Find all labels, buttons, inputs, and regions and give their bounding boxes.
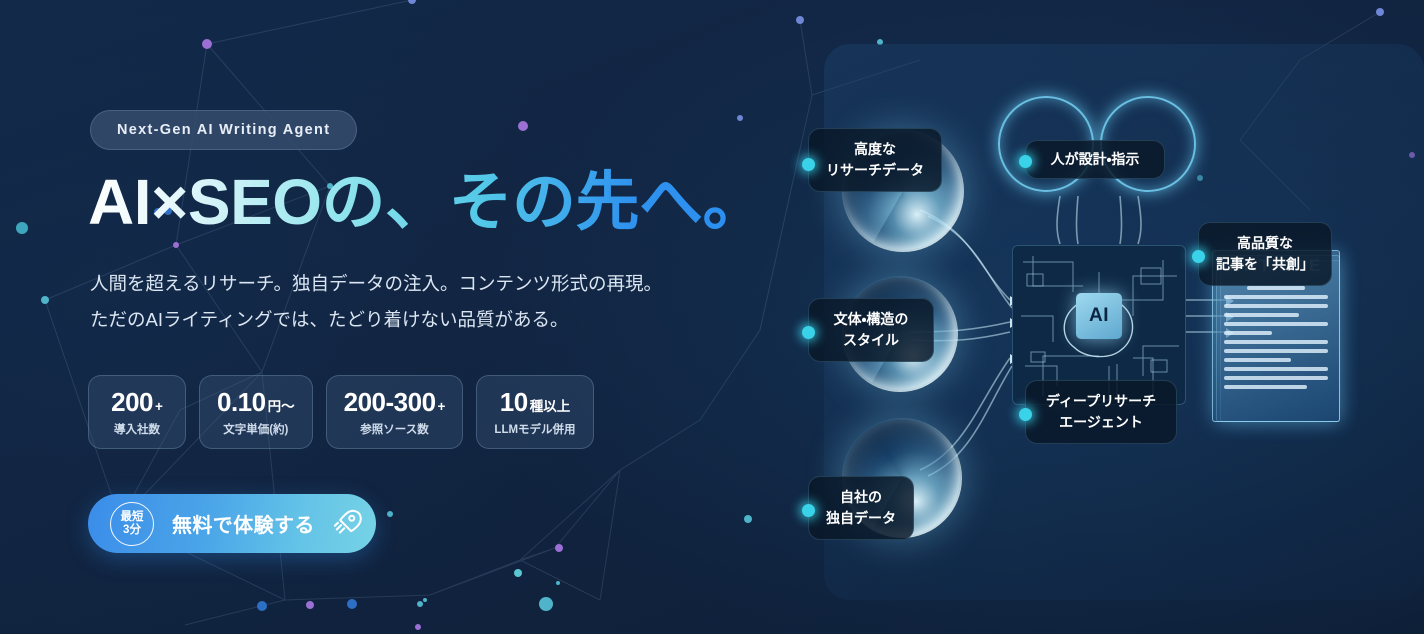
diagram-label-engine: ディープリサーチ エージェント: [1025, 380, 1177, 444]
stat-value: 200-300: [344, 387, 436, 418]
diagram-label-research-data: 高度な リサーチデータ: [808, 128, 942, 192]
diagram-label-output: 高品質な 記事を「共創」: [1198, 222, 1332, 286]
label-line-2: スタイル: [843, 330, 899, 351]
connector-dot-output: [1192, 250, 1205, 263]
stat-label: 参照ソース数: [360, 421, 428, 437]
connector-dot-human: [1019, 155, 1032, 168]
stat-value: 0.10: [217, 387, 266, 418]
diagram-label-style: 文体・構造の スタイル: [808, 298, 934, 362]
connector-dot-style: [802, 326, 815, 339]
hero-section: Next-Gen AI Writing Agent AI×SEOの、その先へ。 …: [0, 0, 1424, 634]
rocket-icon: [333, 507, 363, 540]
label-line-2: エージェント: [1059, 412, 1143, 433]
ai-workflow-diagram: AI ARTICLE 高度な リサーチデータ 文体・構造の スタイル 自社の 独…: [760, 0, 1424, 634]
stat-label: 文字単価(約): [223, 421, 288, 437]
connector-dot-proprietary: [802, 504, 815, 517]
label-line-1: 高品質な: [1237, 233, 1293, 254]
ai-core-chip-label: AI: [1076, 293, 1122, 339]
stat-card: 200-300 + 参照ソース数: [326, 375, 464, 449]
document-text-lines: [1224, 286, 1328, 389]
page-title: AI×SEOの、その先へ。: [88, 168, 766, 237]
stat-value: 10: [500, 387, 528, 418]
hero-left-column: Next-Gen AI Writing Agent AI×SEOの、その先へ。 …: [88, 0, 768, 634]
label-line-1: 高度な: [854, 139, 896, 160]
stat-suffix: +: [438, 399, 446, 414]
hero-badge-label: Next-Gen AI Writing Agent: [117, 122, 330, 138]
label-line-1: 自社の: [840, 487, 882, 508]
stat-suffix: 種以上: [530, 395, 571, 415]
stat-card-list: 200 + 導入社数 0.10 円～ 文字単価(約) 200-300 + 参照ソ…: [88, 375, 594, 449]
stat-label: LLMモデル併用: [494, 421, 575, 437]
stat-suffix: +: [155, 399, 163, 414]
stat-card: 0.10 円～ 文字単価(約): [199, 375, 313, 449]
diagram-label-proprietary-data: 自社の 独自データ: [808, 476, 914, 540]
stat-value: 200: [111, 387, 153, 418]
hero-subheading-line-1: 人間を超えるリサーチ。独自データの注入。コンテンツ形式の再現。: [90, 266, 662, 302]
stat-card: 10 種以上 LLMモデル併用: [476, 375, 593, 449]
hero-subheading-line-2: ただのAIライティングでは、たどり着けない品質がある。: [90, 302, 662, 338]
cta-duration-badge: 最短 3分: [110, 502, 154, 546]
stat-value-group: 200 +: [111, 387, 163, 418]
diagram-label-human-direction: 人が設計・指示: [1025, 140, 1165, 179]
cta-badge-line-2: 3分: [123, 524, 141, 537]
label-line-2: 記事を「共創」: [1216, 254, 1314, 275]
label-line-1: 人が設計・指示: [1051, 149, 1140, 170]
stat-label: 導入社数: [114, 421, 160, 437]
label-line-2: リサーチデータ: [826, 160, 924, 181]
stat-value-group: 10 種以上: [500, 387, 570, 418]
stat-card: 200 + 導入社数: [88, 375, 186, 449]
stat-suffix: 円～: [268, 395, 295, 415]
hero-subheading: 人間を超えるリサーチ。独自データの注入。コンテンツ形式の再現。 ただのAIライテ…: [90, 266, 662, 338]
cta-badge-line-1: 最短: [121, 511, 144, 524]
connector-dot-engine: [1019, 408, 1032, 421]
label-line-2: 独自データ: [826, 508, 896, 529]
cta-label: 無料で体験する: [172, 509, 315, 538]
free-trial-cta-button[interactable]: 最短 3分 無料で体験する: [88, 494, 376, 553]
stat-value-group: 200-300 +: [344, 387, 446, 418]
label-line-1: 文体・構造の: [834, 309, 909, 330]
hero-badge: Next-Gen AI Writing Agent: [90, 110, 357, 150]
connector-dot-research: [802, 158, 815, 171]
stat-value-group: 0.10 円～: [217, 387, 295, 418]
label-line-1: ディープリサーチ: [1046, 391, 1156, 412]
